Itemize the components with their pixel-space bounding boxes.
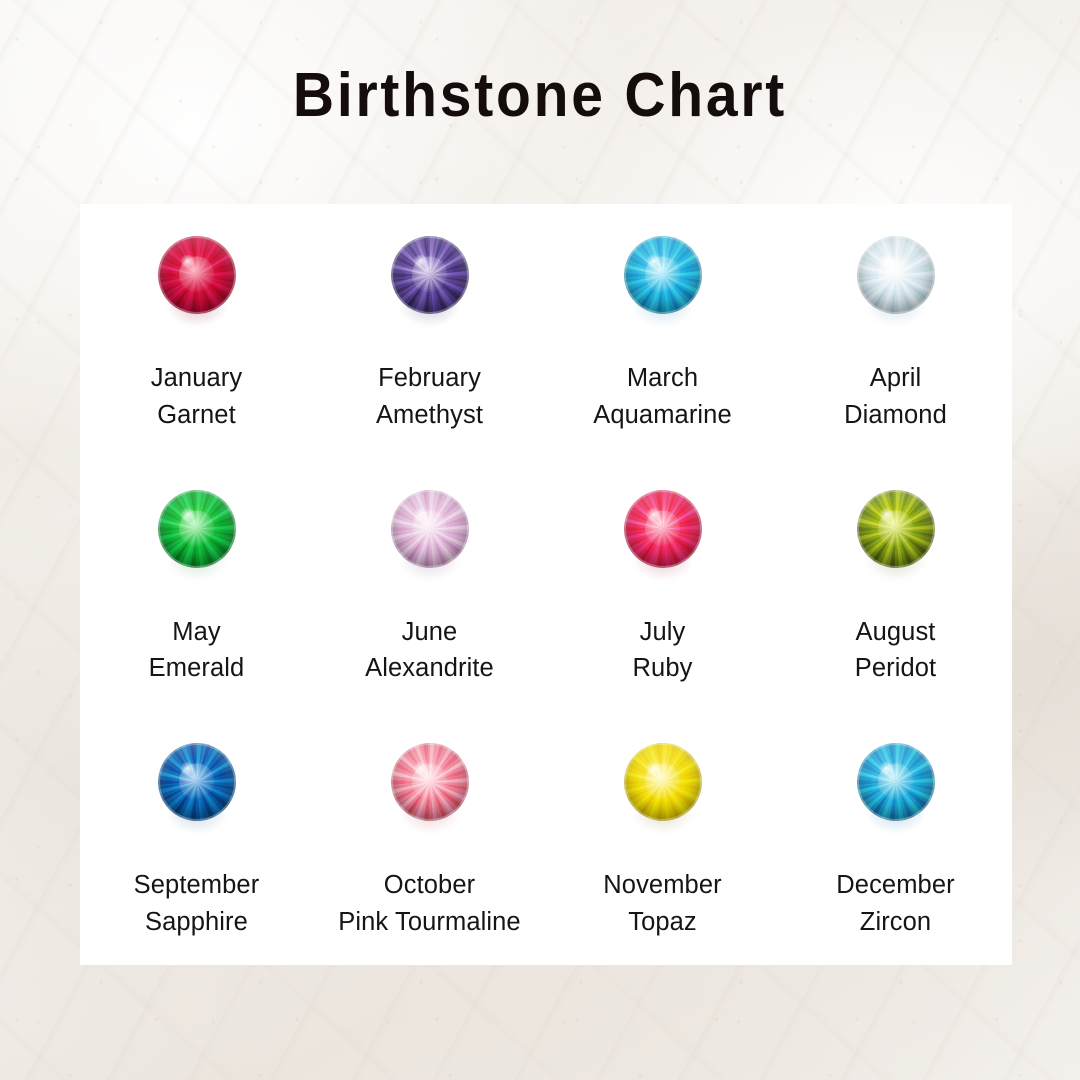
birthstone-cell: OctoberPink Tourmaline (313, 711, 546, 965)
gem-round-brilliant-icon (391, 743, 469, 821)
gem-girdle (857, 743, 935, 821)
stone-label: Emerald (149, 650, 245, 687)
month-label: April (844, 360, 947, 397)
gem-girdle (857, 490, 935, 568)
birthstone-labels: MarchAquamarine (593, 360, 732, 433)
birthstone-cell: MarchAquamarine (546, 204, 779, 458)
birthstone-cell: JanuaryGarnet (80, 204, 313, 458)
birthstone-cell: DecemberZircon (779, 711, 1012, 965)
gem-wrapper (850, 743, 942, 851)
gem-round-brilliant-icon (857, 236, 935, 314)
month-label: June (365, 614, 494, 651)
month-label: May (149, 614, 245, 651)
stone-label: Zircon (836, 904, 954, 941)
month-label: July (633, 614, 693, 651)
stone-label: Sapphire (134, 904, 260, 941)
chart-card: JanuaryGarnetFebruaryAmethystMarchAquama… (80, 204, 1012, 965)
gem-girdle (391, 236, 469, 314)
birthstone-labels: JanuaryGarnet (151, 360, 242, 433)
birthstone-labels: NovemberTopaz (603, 867, 721, 940)
gem-round-brilliant-icon (158, 490, 236, 568)
stone-label: Topaz (603, 904, 721, 941)
birthstone-cell: MayEmerald (80, 458, 313, 712)
gem-wrapper (850, 490, 942, 598)
stone-label: Amethyst (376, 397, 483, 434)
month-label: January (151, 360, 242, 397)
birthstone-chart-page: Birthstone Chart JanuaryGarnetFebruaryAm… (0, 0, 1080, 1080)
gem-girdle (158, 743, 236, 821)
stone-label: Peridot (855, 650, 937, 687)
gem-round-brilliant-icon (391, 236, 469, 314)
birthstone-cell: JulyRuby (546, 458, 779, 712)
birthstone-labels: FebruaryAmethyst (376, 360, 483, 433)
month-label: November (603, 867, 721, 904)
birthstone-cell: FebruaryAmethyst (313, 204, 546, 458)
gem-round-brilliant-icon (857, 743, 935, 821)
stone-label: Diamond (844, 397, 947, 434)
gem-girdle (624, 743, 702, 821)
gem-wrapper (384, 236, 476, 344)
month-label: February (376, 360, 483, 397)
birthstone-labels: AprilDiamond (844, 360, 947, 433)
gem-girdle (624, 490, 702, 568)
stone-label: Aquamarine (593, 397, 732, 434)
gem-round-brilliant-icon (624, 236, 702, 314)
birthstone-labels: DecemberZircon (836, 867, 954, 940)
gem-girdle (391, 743, 469, 821)
birthstone-grid: JanuaryGarnetFebruaryAmethystMarchAquama… (80, 204, 1012, 965)
gem-round-brilliant-icon (158, 236, 236, 314)
gem-wrapper (384, 743, 476, 851)
month-label: September (134, 867, 260, 904)
gem-girdle (624, 236, 702, 314)
gem-round-brilliant-icon (857, 490, 935, 568)
gem-wrapper (850, 236, 942, 344)
gem-wrapper (617, 490, 709, 598)
birthstone-labels: OctoberPink Tourmaline (338, 867, 520, 940)
page-title: Birthstone Chart (43, 60, 1037, 131)
gem-wrapper (151, 743, 243, 851)
month-label: August (855, 614, 937, 651)
gem-wrapper (151, 490, 243, 598)
gem-round-brilliant-icon (391, 490, 469, 568)
gem-girdle (391, 490, 469, 568)
birthstone-labels: SeptemberSapphire (134, 867, 260, 940)
birthstone-labels: AugustPeridot (855, 614, 937, 687)
birthstone-labels: MayEmerald (149, 614, 245, 687)
gem-wrapper (151, 236, 243, 344)
stone-label: Ruby (633, 650, 693, 687)
gem-wrapper (384, 490, 476, 598)
gem-wrapper (617, 743, 709, 851)
birthstone-cell: NovemberTopaz (546, 711, 779, 965)
birthstone-labels: JulyRuby (633, 614, 693, 687)
gem-round-brilliant-icon (624, 490, 702, 568)
gem-girdle (857, 236, 935, 314)
month-label: March (593, 360, 732, 397)
month-label: October (338, 867, 520, 904)
birthstone-cell: AugustPeridot (779, 458, 1012, 712)
birthstone-cell: AprilDiamond (779, 204, 1012, 458)
gem-round-brilliant-icon (624, 743, 702, 821)
birthstone-cell: JuneAlexandrite (313, 458, 546, 712)
gem-girdle (158, 236, 236, 314)
stone-label: Alexandrite (365, 650, 494, 687)
gem-wrapper (617, 236, 709, 344)
birthstone-labels: JuneAlexandrite (365, 614, 494, 687)
gem-round-brilliant-icon (158, 743, 236, 821)
stone-label: Garnet (151, 397, 242, 434)
stone-label: Pink Tourmaline (338, 904, 520, 941)
month-label: December (836, 867, 954, 904)
birthstone-cell: SeptemberSapphire (80, 711, 313, 965)
gem-girdle (158, 490, 236, 568)
